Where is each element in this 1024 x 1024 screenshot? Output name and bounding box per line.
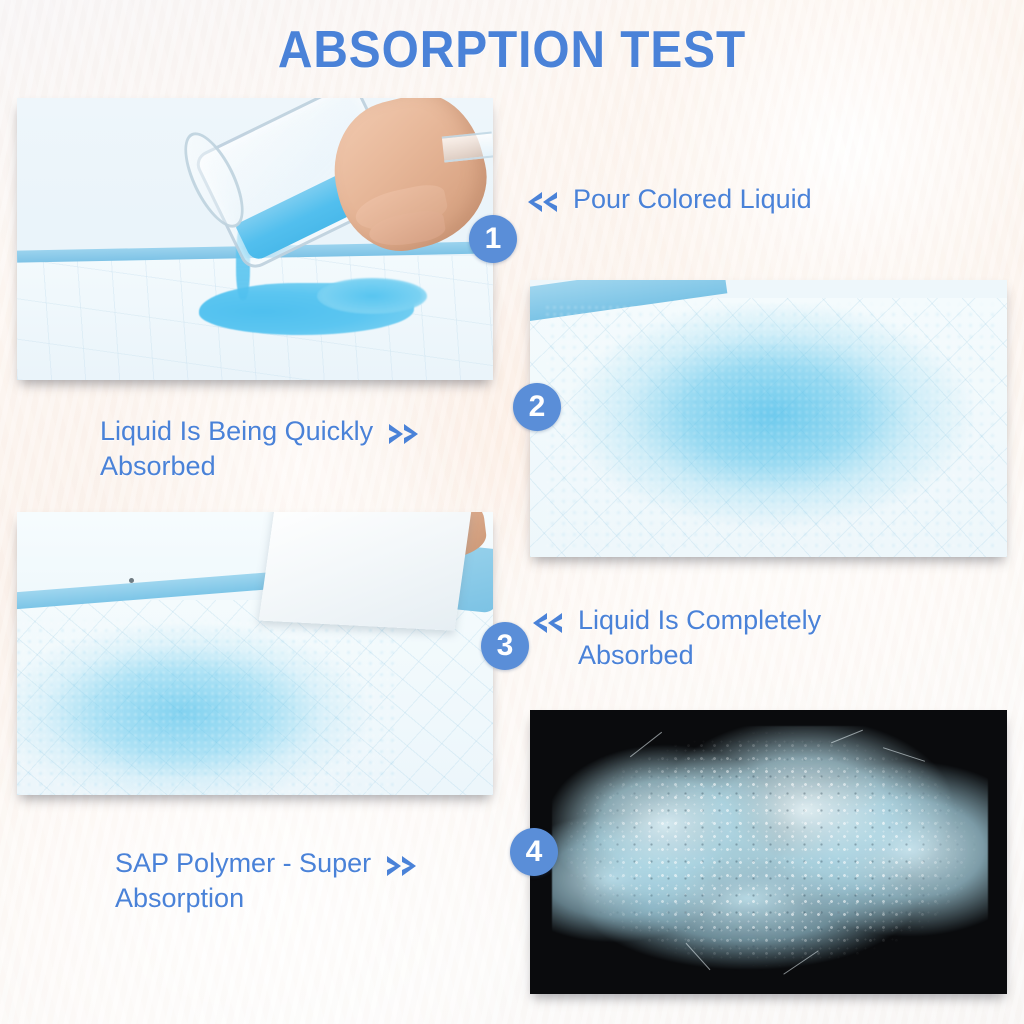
step-caption-4-text: SAP Polymer - Super Absorption xyxy=(115,846,371,915)
step-caption-1: Pour Colored Liquid xyxy=(525,182,812,222)
page-title: ABSORPTION TEST xyxy=(41,20,983,80)
step-caption-1-text: Pour Colored Liquid xyxy=(573,182,812,217)
double-chevron-left-icon xyxy=(530,608,564,643)
liquid-puddle-secondary xyxy=(317,278,427,314)
step-badge-2: 2 xyxy=(513,383,561,431)
double-chevron-right-icon xyxy=(385,851,419,886)
absorbed-stain-photo xyxy=(530,280,1007,557)
absorbed-liquid-stain xyxy=(17,620,399,795)
fiber-texture xyxy=(544,304,999,549)
step-caption-3-text: Liquid Is Completely Absorbed xyxy=(578,603,821,672)
double-chevron-right-icon xyxy=(387,419,421,454)
dry-tissue xyxy=(259,512,471,631)
pouring-liquid-photo xyxy=(17,98,493,380)
step-caption-4: SAP Polymer - Super Absorption xyxy=(115,846,419,915)
step-caption-3: Liquid Is Completely Absorbed xyxy=(530,603,821,672)
step-caption-2: Liquid Is Being Quickly Absorbed xyxy=(100,414,421,483)
step-badge-3: 3 xyxy=(481,622,529,670)
dry-tissue-test-photo xyxy=(17,512,493,795)
gel-texture xyxy=(552,726,988,972)
sap-polymer-gel-photo xyxy=(530,710,1007,994)
absorbed-liquid-stain xyxy=(544,304,999,549)
step-badge-1: 1 xyxy=(469,215,517,263)
fiber-texture xyxy=(17,620,399,795)
glass-edge xyxy=(442,131,493,162)
surface-speck xyxy=(129,578,134,583)
step-badge-4: 4 xyxy=(510,828,558,876)
double-chevron-left-icon xyxy=(525,187,559,222)
step-caption-2-text: Liquid Is Being Quickly Absorbed xyxy=(100,414,373,483)
